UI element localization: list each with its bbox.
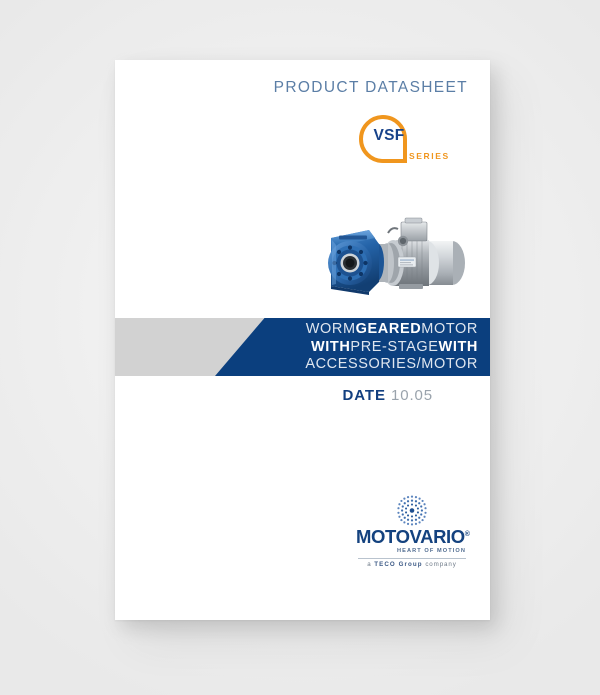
series-badge: VSF SERIES — [354, 115, 472, 173]
banner-line-3: ACCESSORIES/MOTOR — [115, 356, 478, 374]
date-value: 10.05 — [391, 387, 433, 404]
brand-group-line: a TECO Group company — [356, 561, 468, 568]
title-banner: WORMGEAREDMOTOR WITHPRE-STAGEWITH ACCESS… — [115, 318, 490, 376]
banner-line-1-part-1: WORM — [306, 321, 356, 337]
banner-title-text: WORMGEAREDMOTOR WITHPRE-STAGEWITH ACCESS… — [115, 321, 478, 374]
brand-tagline: HEART OF MOTION — [356, 548, 466, 554]
group-name: TECO Group — [374, 561, 422, 568]
banner-line-2-part-2: PRE-STAGE — [350, 339, 438, 355]
banner-line-2: WITHPRE-STAGEWITH — [115, 339, 478, 357]
product-photo-worm-gearmotor-icon — [319, 200, 484, 300]
registered-mark: ® — [465, 531, 470, 538]
group-suffix: company — [425, 561, 456, 568]
brand-divider — [358, 558, 466, 559]
banner-line-2-part-1: WITH — [311, 339, 350, 355]
banner-line-1-part-2: GEARED — [356, 321, 422, 337]
brand-name-text: MOTOVARIO — [356, 526, 465, 547]
page-title: PRODUCT DATASHEET — [115, 79, 468, 97]
brand-name: MOTOVARIO® — [356, 528, 468, 547]
motovario-rosette-icon — [396, 494, 429, 527]
banner-line-2-part-3: WITH — [439, 339, 478, 355]
date-line: DATE 10.05 — [115, 387, 433, 404]
series-word-label: SERIES — [409, 151, 450, 161]
banner-line-1-part-3: MOTOR — [421, 321, 478, 337]
date-label: DATE — [343, 387, 386, 404]
brand-logo: MOTOVARIO® HEART OF MOTION a TECO Group … — [356, 494, 468, 572]
banner-line-3-part-1: ACCESSORIES/MOTOR — [305, 356, 478, 372]
group-prefix: a — [367, 561, 371, 568]
series-code-label: VSF — [365, 128, 413, 144]
datasheet-page: PRODUCT DATASHEET VSF SERIES — [115, 60, 490, 620]
banner-line-1: WORMGEAREDMOTOR — [115, 321, 478, 339]
